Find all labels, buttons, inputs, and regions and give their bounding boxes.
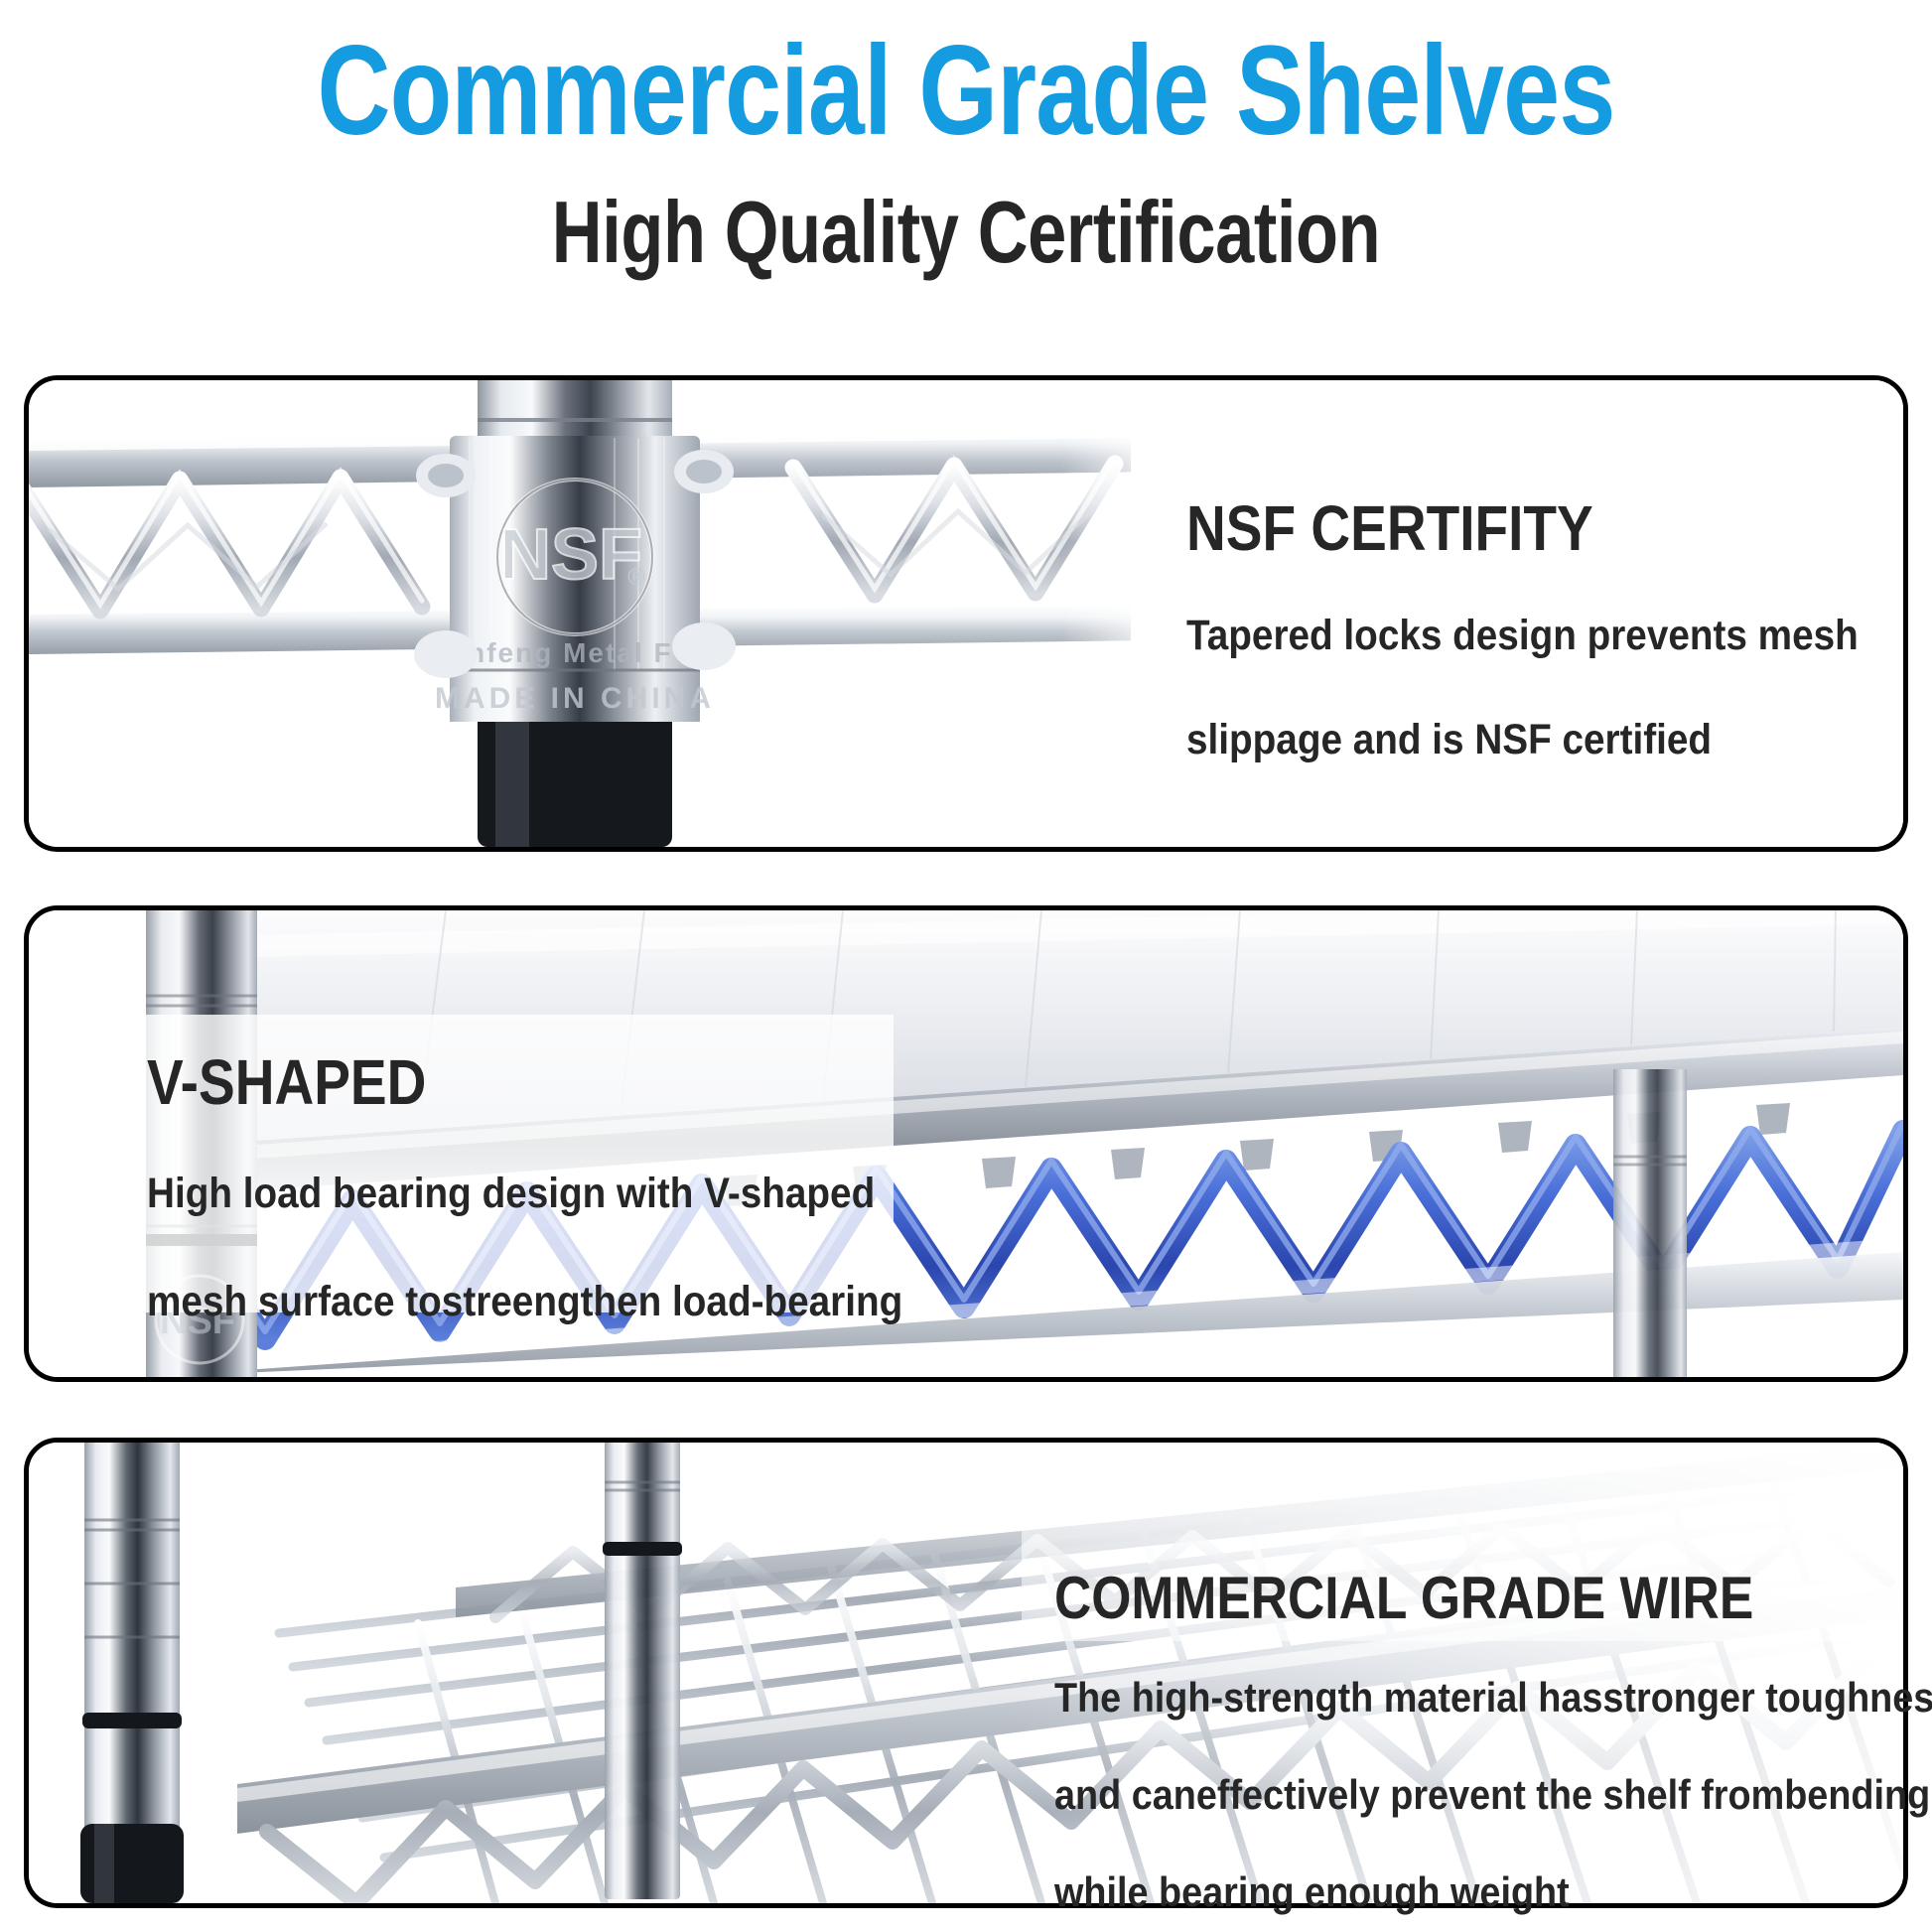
svg-text:NSF: NSF [499, 515, 642, 595]
feature-body-nsf-line1: Tapered locks design prevents mesh [1186, 608, 1859, 664]
feature-text-v-shaped: V-SHAPED High load bearing design with V… [147, 1050, 987, 1330]
feature-body-v-shaped-line1: High load bearing design with V-shaped [147, 1166, 902, 1222]
feature-text-commercial-wire: COMMERCIAL GRADE WIRE The high-strength … [1054, 1569, 1932, 1920]
svg-text:Xinfeng Metal FTY: Xinfeng Metal FTY [438, 637, 713, 668]
feature-body-nsf-line2: slippage and is NSF certified [1186, 712, 1859, 768]
feature-title-nsf: NSF CERTIFITY [1186, 496, 1829, 560]
header: Commercial Grade Shelves High Quality Ce… [0, 0, 1932, 276]
feature-body-v-shaped-line2: mesh surface tostreengthen load-bearing [147, 1274, 902, 1330]
feature-title-commercial-wire: COMMERCIAL GRADE WIRE [1054, 1569, 1915, 1628]
feature-body-commercial-wire-line1: The high-strength material hasstronger t… [1054, 1670, 1932, 1725]
feature-body-commercial-wire-line3: while bearing enough weight [1054, 1864, 1932, 1920]
feature-body-commercial-wire-line2: and caneffectively prevent the shelf fro… [1054, 1767, 1932, 1823]
feature-text-nsf: NSF CERTIFITY Tapered locks design preve… [1186, 496, 1932, 768]
svg-text:®: ® [627, 564, 645, 591]
svg-text:MADE IN CHINA: MADE IN CHINA [435, 682, 715, 715]
feature-title-v-shaped: V-SHAPED [147, 1050, 869, 1114]
page-subtitle: High Quality Certification [194, 189, 1739, 276]
page-title: Commercial Grade Shelves [194, 28, 1739, 155]
